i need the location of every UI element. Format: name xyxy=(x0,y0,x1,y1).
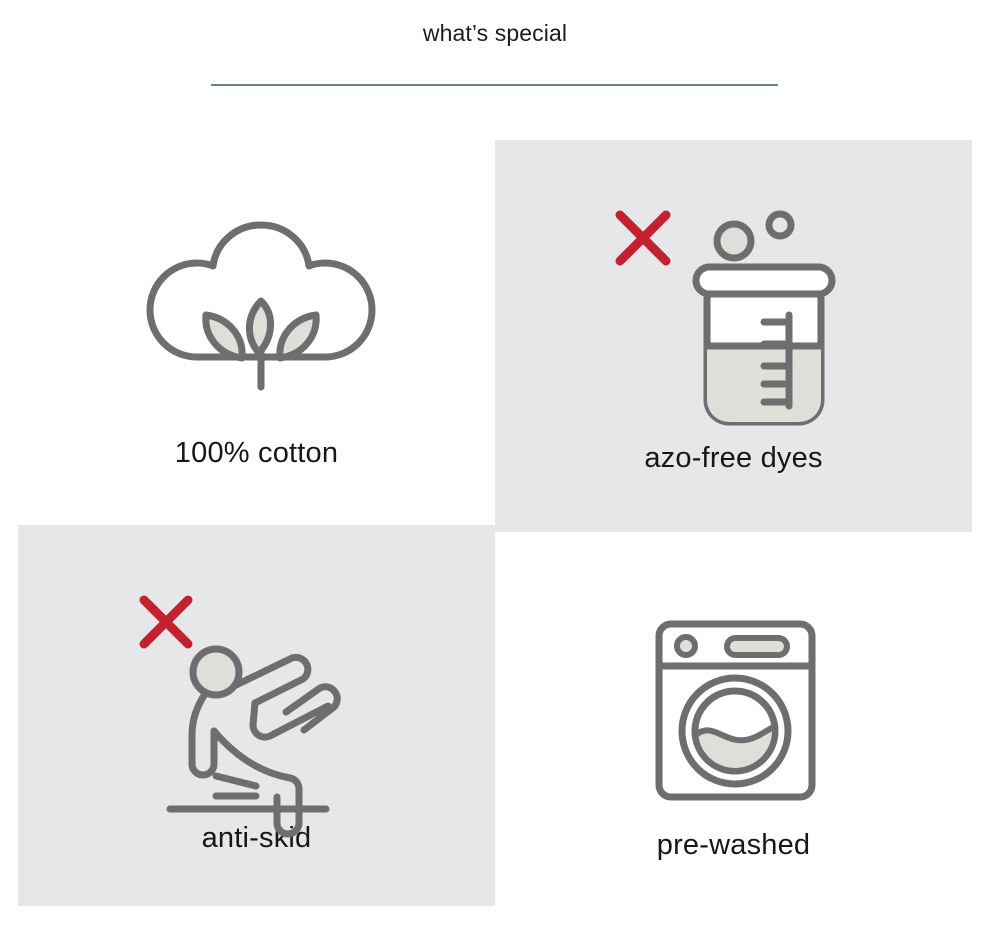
feature-cell-cotton[interactable]: 100% cotton xyxy=(18,140,495,521)
feature-cell-prewashed[interactable]: pre-washed xyxy=(495,532,972,913)
feature-label-prewashed: pre-washed xyxy=(657,826,811,864)
slip-hazard-icon xyxy=(130,590,380,815)
cotton-leaf-left xyxy=(205,315,241,358)
washing-machine-icon xyxy=(653,618,818,803)
feature-cell-azo[interactable]: azo-free dyes xyxy=(495,140,972,532)
figure-back xyxy=(192,694,205,764)
red-cross-icon xyxy=(144,600,188,644)
washer-detergent-slot xyxy=(727,638,787,655)
motion-line-1 xyxy=(216,776,256,786)
feature-cell-skid[interactable]: anti-skid xyxy=(18,525,495,906)
azo-icon-wrap xyxy=(584,195,884,435)
feature-grid: 100% cotton xyxy=(0,130,990,930)
red-cross-icon xyxy=(620,215,666,261)
page-header: what’s special xyxy=(0,0,990,130)
washer-icon-wrap xyxy=(584,582,884,822)
washer-knob xyxy=(677,637,695,655)
bubble-large-icon xyxy=(717,224,751,258)
bubble-small-icon xyxy=(769,214,791,236)
figure-arm-upper xyxy=(234,657,308,703)
beaker-icon xyxy=(604,203,864,433)
skid-icon-wrap xyxy=(107,575,407,815)
page-title: what’s special xyxy=(0,18,990,48)
cotton-leaf-center xyxy=(249,301,270,353)
feature-label-azo: azo-free dyes xyxy=(644,439,822,477)
cotton-leaf-right xyxy=(279,315,315,358)
cotton-icon-wrap xyxy=(107,190,407,430)
beaker-rim xyxy=(696,267,832,294)
feature-label-cotton: 100% cotton xyxy=(175,434,338,472)
header-divider xyxy=(211,84,778,86)
cotton-boll-icon xyxy=(145,215,377,415)
